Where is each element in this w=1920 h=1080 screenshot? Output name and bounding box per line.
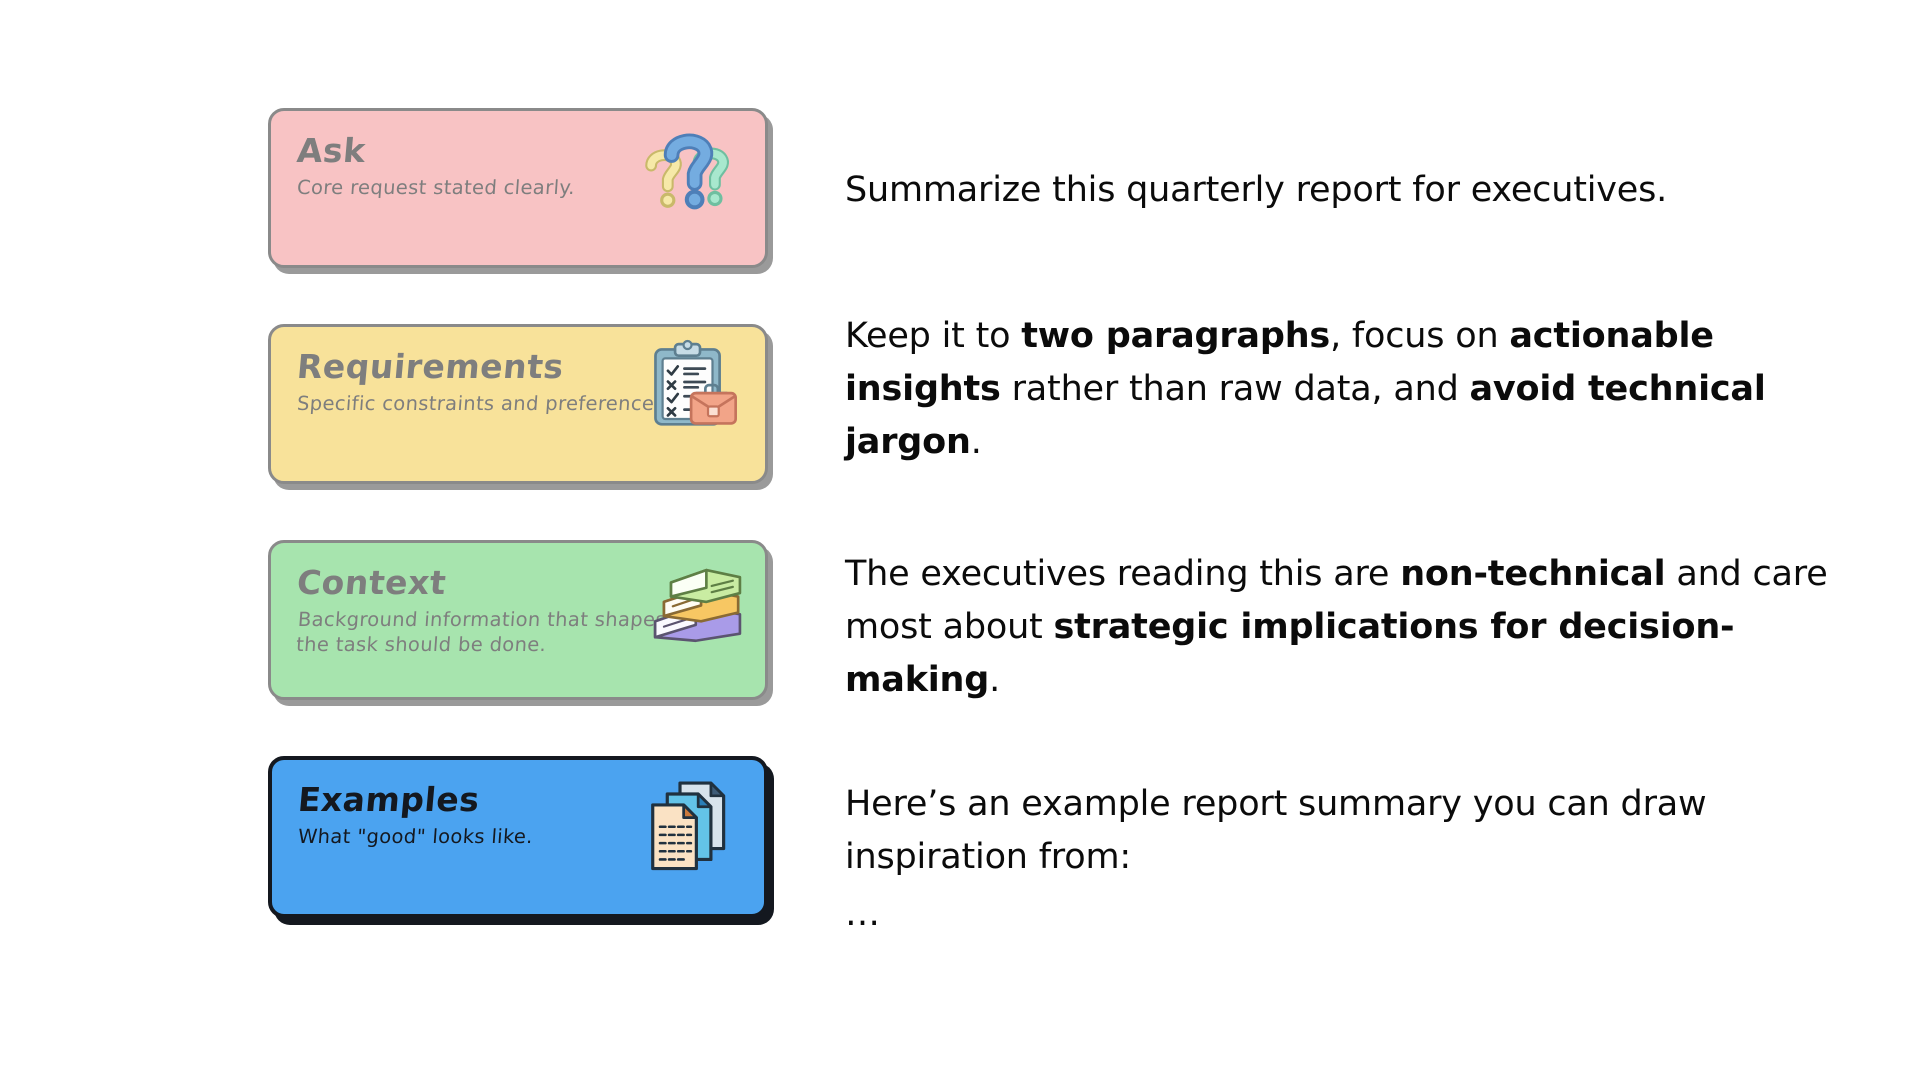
card-title: Ask	[295, 133, 740, 170]
card-body: Context Background information that shap…	[297, 565, 739, 673]
slide-canvas: Ask Core request stated clearly.	[0, 0, 1920, 1080]
example-text-ellipsis: …	[845, 888, 1845, 941]
card-body: Ask Core request stated clearly.	[297, 133, 739, 241]
example-text-requirements: Keep it to two paragraphs, focus on acti…	[845, 310, 1845, 470]
card-requirements[interactable]: Requirements Specific constraints and pr…	[268, 324, 768, 484]
card-context[interactable]: Context Background information that shap…	[268, 540, 768, 700]
card-subtitle: Core request stated clearly.	[296, 176, 698, 201]
card-body: Requirements Specific constraints and pr…	[297, 349, 739, 457]
card-ask[interactable]: Ask Core request stated clearly.	[268, 108, 768, 268]
card-title: Context	[295, 565, 740, 602]
prompt-component-card-list: Ask Core request stated clearly.	[268, 108, 778, 918]
example-text-ask: Summarize this quarterly report for exec…	[845, 164, 1845, 217]
card-title: Examples	[296, 782, 739, 819]
card-subtitle: What "good" looks like.	[297, 825, 699, 850]
card-subtitle: Background information that shapes how t…	[295, 608, 740, 658]
example-text-examples: Here’s an example report summary you can…	[845, 778, 1845, 884]
card-subtitle: Specific constraints and preferences.	[296, 392, 698, 417]
card-body: Examples What "good" looks like.	[298, 782, 738, 890]
card-examples[interactable]: Examples What "good" looks like.	[268, 756, 768, 918]
example-text-context: The executives reading this are non-tech…	[845, 548, 1845, 708]
card-title: Requirements	[295, 349, 740, 386]
